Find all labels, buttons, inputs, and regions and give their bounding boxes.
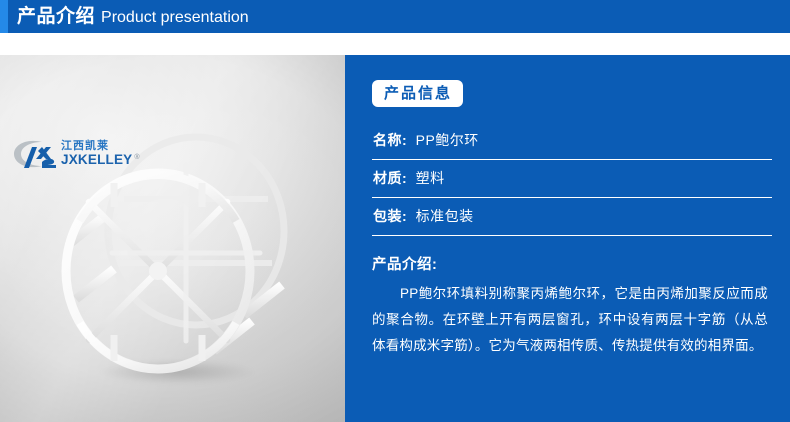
logo-name-en-row: JXKELLEY ® xyxy=(61,153,140,167)
logo-wordmark: 江西凯莱 JXKELLEY ® xyxy=(61,141,140,167)
company-logo: 江西凯莱 JXKELLEY ® xyxy=(12,135,142,173)
description-body: PP鲍尔环填料别称聚丙烯鲍尔环，它是由丙烯加聚反应而成的聚合物。在环壁上开有两层… xyxy=(372,281,772,359)
header-accent-bar xyxy=(0,0,8,33)
logo-name-cn: 江西凯莱 xyxy=(61,141,140,152)
info-value-name: PP鲍尔环 xyxy=(416,132,479,148)
product-info-badge: 产品信息 xyxy=(372,80,463,107)
product-info-panel: 产品信息 名称: PP鲍尔环 材质: 塑料 包装: 标准包装 产品介绍: PP鲍… xyxy=(345,55,790,422)
k2-arc-icon xyxy=(12,137,60,171)
table-row: 名称: PP鲍尔环 xyxy=(372,122,772,160)
page-header-bar: 产品介绍 Product presentation xyxy=(0,0,790,33)
info-value-packaging: 标准包装 xyxy=(416,208,474,224)
table-row: 包装: 标准包装 xyxy=(372,198,772,236)
registered-mark-icon: ® xyxy=(134,154,139,161)
product-presentation-page: 产品介绍 Product presentation xyxy=(0,0,790,422)
page-title-en: Product presentation xyxy=(101,10,249,26)
page-title: 产品介绍 Product presentation xyxy=(8,7,249,26)
info-label-packaging: 包装: xyxy=(373,208,407,224)
table-row: 材质: 塑料 xyxy=(372,160,772,198)
description-heading: 产品介绍: xyxy=(372,253,772,274)
product-info-rows: 名称: PP鲍尔环 材质: 塑料 包装: 标准包装 xyxy=(372,122,772,236)
content-split: 江西凯莱 JXKELLEY ® 产品信息 名称: PP鲍尔环 材质: xyxy=(0,55,790,422)
info-value-material: 塑料 xyxy=(416,170,445,186)
page-title-cn: 产品介绍 xyxy=(17,7,95,26)
info-label-material: 材质: xyxy=(373,170,407,186)
logo-name-en: JXKELLEY xyxy=(61,153,132,167)
info-label-name: 名称: xyxy=(373,132,407,148)
product-photo-panel: 江西凯莱 JXKELLEY ® xyxy=(0,55,345,422)
